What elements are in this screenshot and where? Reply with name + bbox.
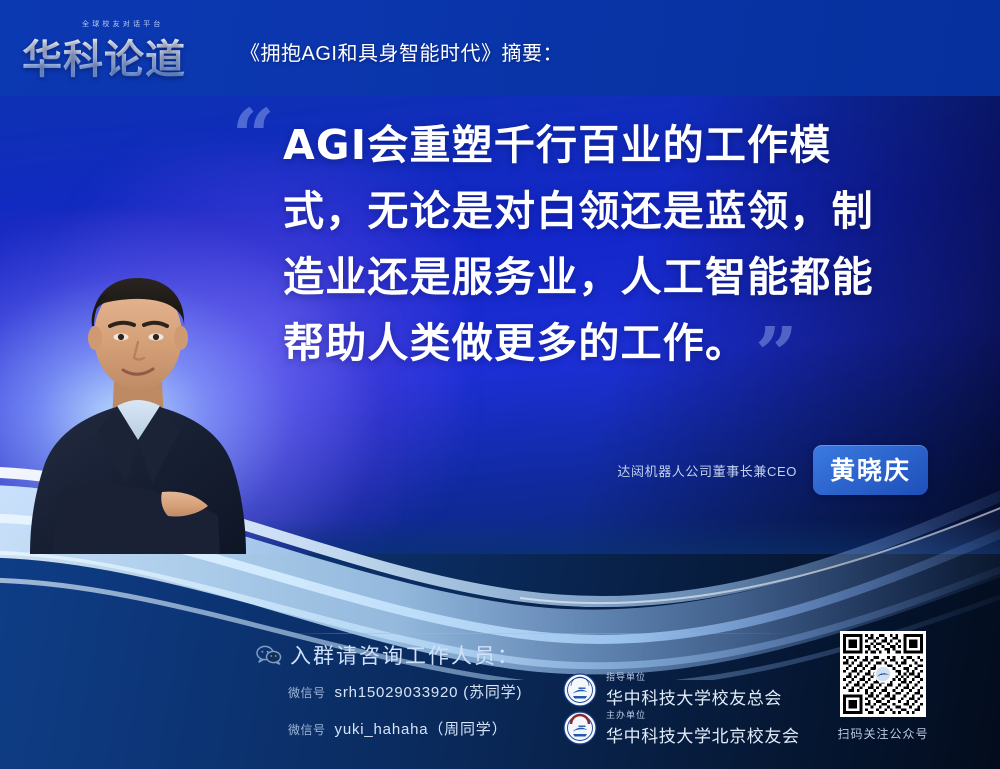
contact-row: 微信号 srh15029033920 (苏同学) <box>288 681 522 702</box>
speaker-role: 达闼机器人公司董事长兼CEO <box>617 461 797 480</box>
organization-kind: 主办单位 <box>606 708 800 721</box>
university-emblem-icon <box>563 711 597 745</box>
contact-row: 微信号 yuki_hahaha（周同学） <box>288 718 507 739</box>
qr-section: 扫码关注公众号 <box>833 631 933 742</box>
speaker-portrait <box>22 234 254 554</box>
contact-label: 微信号 <box>288 721 326 738</box>
quote-open-mark: “ <box>232 100 275 174</box>
logo-text: 华科论道 <box>22 27 186 85</box>
brand-logo[interactable]: 全球校友对话平台 华科论道 <box>22 17 218 79</box>
organization-row: 指导单位 华中科技大学校友总会 <box>563 670 782 709</box>
poster-canvas: 全球校友对话平台 华科论道 《拥抱AGI和具身智能时代》摘要： “ AGI会重塑… <box>0 0 1000 769</box>
page-title: 《拥抱AGI和具身智能时代》摘要： <box>240 37 563 66</box>
contact-value: srh15029033920 (苏同学) <box>335 681 523 702</box>
bottom-divider <box>288 633 788 634</box>
university-emblem-icon <box>563 673 597 707</box>
organization-kind: 指导单位 <box>606 670 782 683</box>
qr-caption: 扫码关注公众号 <box>833 725 933 742</box>
quote-line: 式，无论是对白领还是蓝领，制 <box>283 178 943 244</box>
wechat-icon <box>256 645 282 665</box>
quote-line: AGI会重塑千行百业的工作模 <box>283 112 943 178</box>
organization-row: 主办单位 华中科技大学北京校友会 <box>563 708 800 747</box>
quote-line: 帮助人类做更多的工作。 <box>283 310 943 376</box>
qr-code-image[interactable] <box>840 631 926 717</box>
organization-name: 华中科技大学校友总会 <box>606 684 782 709</box>
header: 全球校友对话平台 华科论道 《拥抱AGI和具身智能时代》摘要： <box>0 0 1000 96</box>
quote-close-mark: ” <box>755 318 798 392</box>
attribution: 达闼机器人公司董事长兼CEO 黄晓庆 <box>617 445 928 495</box>
quote-line: 造业还是服务业，人工智能都能 <box>283 244 943 310</box>
contact-title: 入群请咨询工作人员： <box>290 640 520 670</box>
speaker-name-badge: 黄晓庆 <box>813 445 928 495</box>
contact-value: yuki_hahaha（周同学） <box>335 718 508 739</box>
contact-label: 微信号 <box>288 684 326 701</box>
quote-text: AGI会重塑千行百业的工作模 式，无论是对白领还是蓝领，制 造业还是服务业，人工… <box>283 112 943 376</box>
organization-name: 华中科技大学北京校友会 <box>606 722 800 747</box>
